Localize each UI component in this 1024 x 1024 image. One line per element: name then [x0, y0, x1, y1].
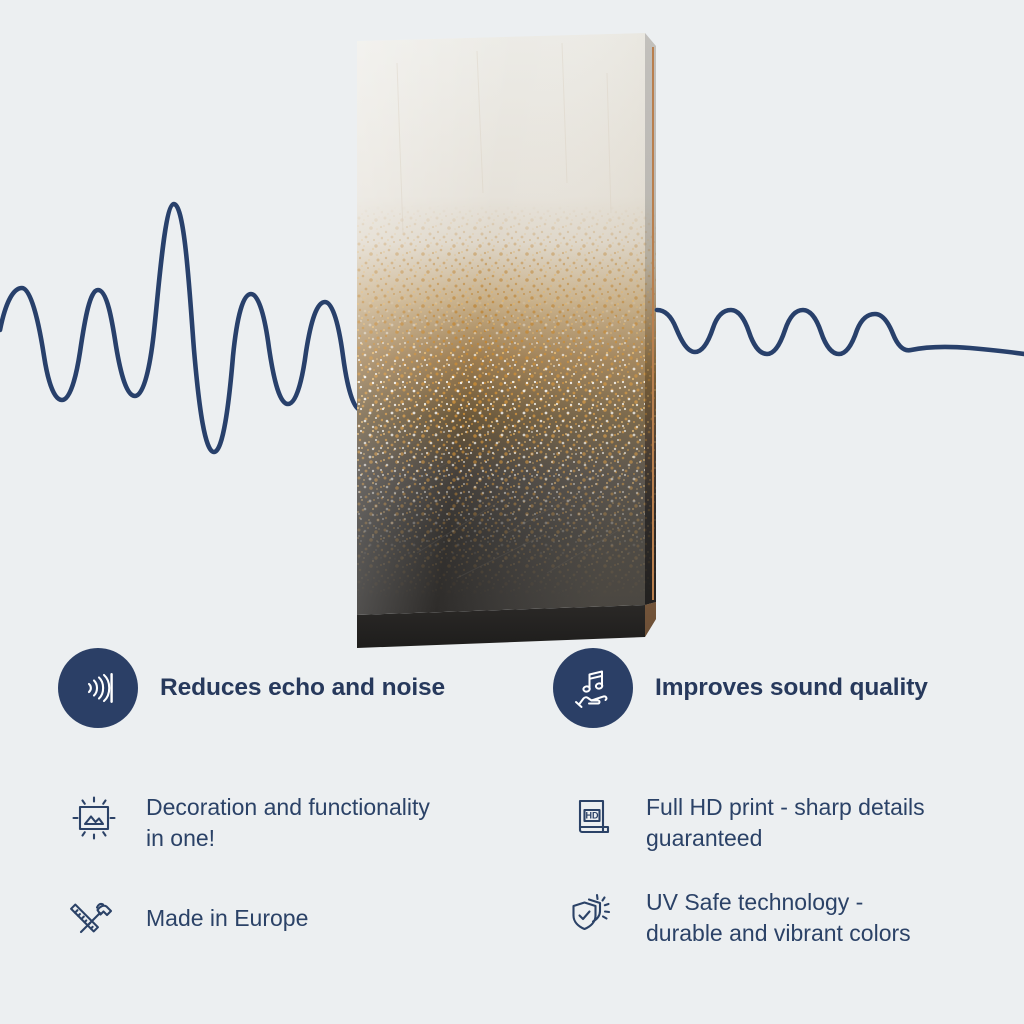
- badge-improves-sound[interactable]: Improves sound quality: [553, 648, 928, 728]
- feature-line: Decoration and functionality: [146, 792, 430, 823]
- feature-icon-wrap: [66, 890, 122, 946]
- sound-waves-barrier-icon: [74, 664, 122, 712]
- feature-made-in-europe[interactable]: Made in Europe: [66, 890, 516, 946]
- badge-reduces-echo[interactable]: Reduces echo and noise: [58, 648, 445, 728]
- feature-line: UV Safe technology -: [646, 887, 911, 918]
- hammer-ruler-icon: [67, 891, 121, 945]
- feature-text: Decoration and functionality in one!: [146, 790, 430, 853]
- badge-circle: [553, 648, 633, 728]
- badge-label: Reduces echo and noise: [160, 674, 445, 702]
- feature-hd-print[interactable]: HD Full HD print - sharp details guarant…: [566, 790, 1016, 853]
- hand-music-note-icon: [569, 664, 617, 712]
- badge-circle: [58, 648, 138, 728]
- feature-icon-wrap: [66, 790, 122, 846]
- feature-badge-row: Reduces echo and noise Improves sound qu…: [0, 648, 1024, 748]
- feature-icon-wrap: [566, 885, 622, 941]
- feature-uv-safe[interactable]: UV Safe technology - durable and vibrant…: [566, 885, 1016, 948]
- feature-line: durable and vibrant colors: [646, 918, 911, 949]
- feature-decoration[interactable]: Decoration and functionality in one!: [66, 790, 516, 853]
- feature-line: guaranteed: [646, 823, 925, 854]
- uv-shield-sun-icon: [567, 886, 621, 940]
- waveform-path-right: [657, 310, 1024, 354]
- badge-label: Improves sound quality: [655, 674, 928, 702]
- canvas-front-face: [357, 33, 657, 648]
- hd-label: HD: [586, 811, 599, 821]
- feature-text: Made in Europe: [146, 903, 308, 934]
- feature-text: UV Safe technology - durable and vibrant…: [646, 885, 911, 948]
- feature-text: Full HD print - sharp details guaranteed: [646, 790, 925, 853]
- canvas-product-image: [357, 33, 657, 648]
- hd-print-page-icon: HD: [567, 791, 621, 845]
- feature-icon-wrap: HD: [566, 790, 622, 846]
- feature-line: Made in Europe: [146, 903, 308, 934]
- framed-picture-shine-icon: [67, 791, 121, 845]
- feature-line: Full HD print - sharp details: [646, 792, 925, 823]
- feature-line: in one!: [146, 823, 430, 854]
